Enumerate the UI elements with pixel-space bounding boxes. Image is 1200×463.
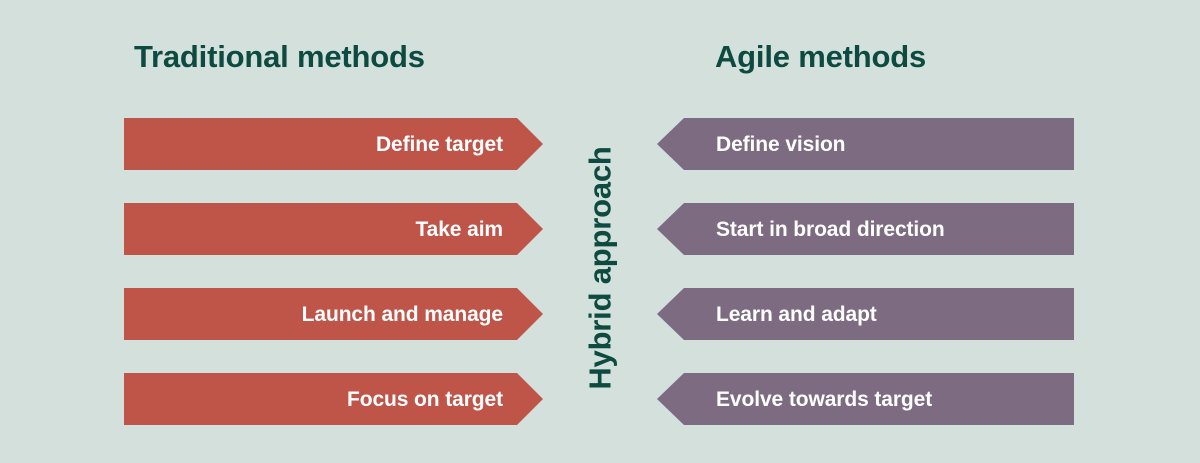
agile-step-4-label: Evolve towards target [716,389,932,410]
agile-step-2-label: Start in broad direction [716,219,945,240]
traditional-methods-flow: Define target Take aim Launch and manage… [124,118,543,425]
traditional-step-2-label: Take aim [415,219,503,240]
traditional-step-2: Take aim [124,203,543,255]
right-column-title: Agile methods [715,41,926,72]
left-column-title: Traditional methods [134,41,425,72]
agile-step-4: Evolve towards target [657,373,1074,425]
agile-step-1-label: Define vision [716,134,845,155]
traditional-step-3: Launch and manage [124,288,543,340]
agile-step-1: Define vision [657,118,1074,170]
agile-step-3-label: Learn and adapt [716,304,877,325]
traditional-step-1: Define target [124,118,543,170]
traditional-step-1-label: Define target [376,134,503,155]
agile-methods-flow: Define vision Start in broad direction L… [657,118,1074,425]
diagram-canvas: Traditional methods Agile methods Hybrid… [0,0,1200,463]
agile-step-3: Learn and adapt [657,288,1074,340]
traditional-step-3-label: Launch and manage [302,304,503,325]
traditional-step-4: Focus on target [124,373,543,425]
traditional-step-4-label: Focus on target [347,389,503,410]
hybrid-approach-label: Hybrid approach [585,146,616,389]
agile-step-2: Start in broad direction [657,203,1074,255]
